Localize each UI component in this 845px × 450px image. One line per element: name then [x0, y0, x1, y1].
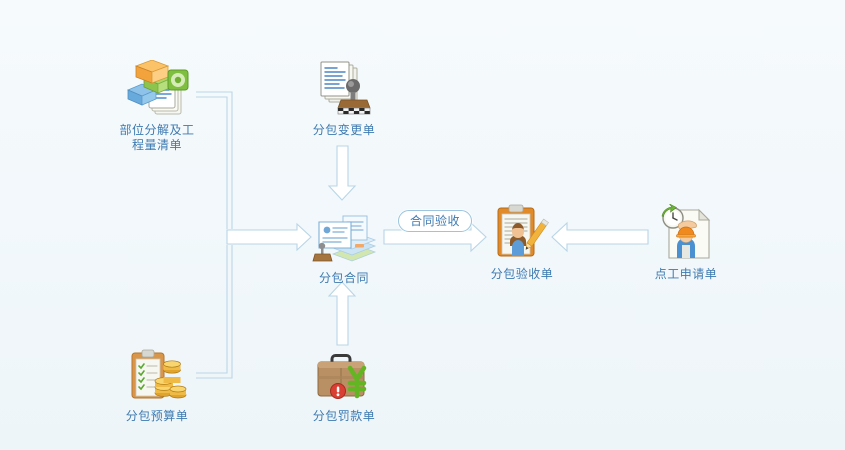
node-label: 分包罚款单	[284, 409, 404, 424]
node-subcontract-penalty[interactable]: 分包罚款单	[284, 344, 404, 424]
node-label: 点工申请单	[626, 267, 746, 282]
node-subcontract[interactable]: 分包合同	[284, 206, 404, 286]
node-label: 部位分解及工 程量清单	[97, 123, 217, 153]
node-subcontract-change[interactable]: 分包变更单	[284, 58, 404, 138]
briefcase-yen-icon	[284, 344, 404, 404]
connector-change-to-contract	[329, 146, 355, 200]
node-label: 分包预算单	[97, 409, 217, 424]
connector-penalty-to-contract	[329, 282, 355, 345]
blocks-documents-icon	[97, 58, 217, 118]
node-label: 分包验收单	[462, 267, 582, 282]
document-stamp-icon	[284, 58, 404, 118]
connector-label-contract-acceptance: 合同验收	[398, 210, 472, 232]
clipboard-coins-icon	[97, 344, 217, 404]
node-subcontract-acceptance[interactable]: 分包验收单	[462, 202, 582, 282]
node-wbs-boq[interactable]: 部位分解及工 程量清单	[97, 58, 217, 153]
clipboard-person-pencil-icon	[462, 202, 582, 262]
node-subcontract-budget[interactable]: 分包预算单	[97, 344, 217, 424]
clock-worker-document-icon	[626, 202, 746, 262]
contract-stamp-icon	[284, 206, 404, 266]
node-day-labor-request[interactable]: 点工申请单	[626, 202, 746, 282]
flowchart-canvas: 合同验收	[0, 0, 845, 450]
node-label: 分包变更单	[284, 123, 404, 138]
node-label: 分包合同	[284, 271, 404, 286]
